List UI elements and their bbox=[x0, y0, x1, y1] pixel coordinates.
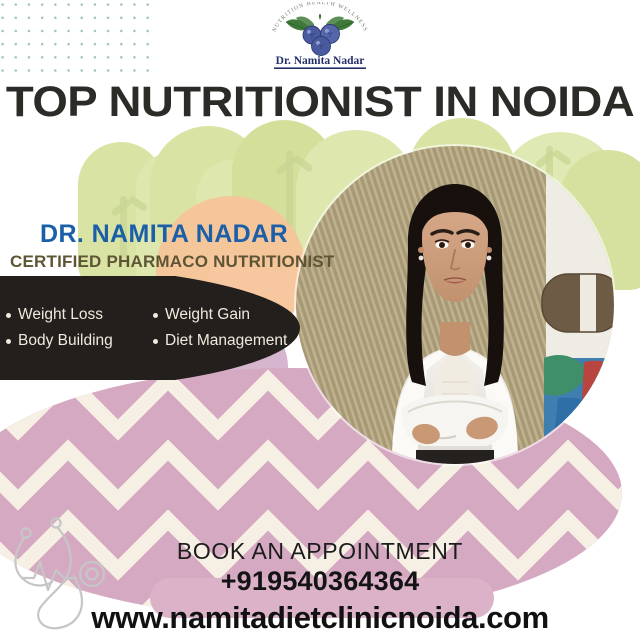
doctor-photo bbox=[296, 146, 614, 464]
website-url[interactable]: www.namitadietclinicnoida.com bbox=[0, 600, 640, 636]
page-title: TOP NUTRITIONIST IN NOIDA bbox=[0, 80, 640, 124]
list-item: Weight Gain bbox=[153, 302, 300, 328]
list-item: Diet Management bbox=[153, 328, 300, 354]
phone-number[interactable]: +919540364364 bbox=[0, 566, 640, 597]
bullet-icon bbox=[153, 339, 158, 344]
logo-brand-text: Dr. Namita Nadar bbox=[276, 55, 365, 67]
list-item: Body Building bbox=[6, 328, 153, 354]
cta-text: BOOK AN APPOINTMENT bbox=[0, 538, 640, 565]
bullet-icon bbox=[6, 339, 11, 344]
bullet-icon bbox=[6, 313, 11, 318]
service-label: Body Building bbox=[18, 328, 113, 354]
service-label: Weight Gain bbox=[165, 302, 250, 328]
brand-logo[interactable]: NUTRITION HEALTH WELLNESS bbox=[250, 2, 390, 72]
services-list: Weight Loss Weight Gain Body Building Di… bbox=[0, 276, 300, 380]
doctor-credential: CERTIFIED PHARMACO NUTRITIONIST bbox=[10, 252, 334, 272]
poster-canvas: NUTRITION HEALTH WELLNESS bbox=[0, 0, 640, 640]
doctor-name: DR. NAMITA NADAR bbox=[40, 220, 288, 249]
doctor-portrait-image bbox=[296, 146, 614, 464]
list-item: Weight Loss bbox=[6, 302, 153, 328]
service-label: Weight Loss bbox=[18, 302, 103, 328]
blueberry-cluster-icon: NUTRITION HEALTH WELLNESS bbox=[250, 2, 390, 72]
bullet-icon bbox=[153, 313, 158, 318]
service-label: Diet Management bbox=[165, 328, 287, 354]
dot-grid-pattern bbox=[0, 0, 156, 74]
